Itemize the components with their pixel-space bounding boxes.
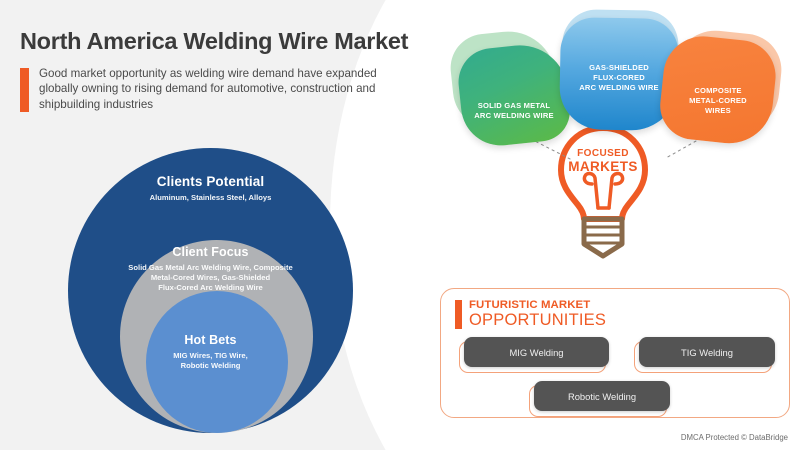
lightbulb-label: FOCUSED MARKETS bbox=[548, 148, 658, 173]
opportunity-chip-robotic-welding[interactable]: Robotic Welding bbox=[529, 385, 665, 415]
blob-line-3: WIRES bbox=[689, 106, 747, 116]
circle-detail-client-focus-line-3: Flux-Cored Arc Welding Wire bbox=[68, 283, 353, 293]
blob-solid-gas-metal-body bbox=[455, 41, 573, 150]
panel-accent-bar bbox=[455, 300, 462, 329]
circle-detail-client-focus-line-2: Metal-Cored Wires, Gas-Shielded bbox=[68, 273, 353, 283]
blob-line-2: METAL-CORED bbox=[689, 96, 747, 106]
chip-label: Robotic Welding bbox=[534, 381, 670, 411]
circle-label-clients-potential: Clients Potential Aluminum, Stainless St… bbox=[68, 174, 353, 203]
page-title: North America Welding Wire Market bbox=[20, 28, 408, 55]
chip-label: MIG Welding bbox=[464, 337, 609, 367]
circle-title-hot-bets: Hot Bets bbox=[68, 333, 353, 347]
circle-title-client-focus: Client Focus bbox=[68, 245, 353, 259]
blob-gas-shielded-label: GAS-SHIELDED FLUX-CORED ARC WELDING WIRE bbox=[579, 63, 659, 93]
circle-detail-client-focus-line-1: Solid Gas Metal Arc Welding Wire, Compos… bbox=[68, 263, 353, 273]
blob-line-2: ARC WELDING WIRE bbox=[474, 111, 554, 121]
subtitle-accent-bar bbox=[20, 68, 29, 112]
blob-line-1: GAS-SHIELDED bbox=[579, 63, 659, 73]
circle-label-hot-bets: Hot Bets MIG Wires, TIG Wire, Robotic We… bbox=[68, 333, 353, 371]
panel-heading-top: FUTURISTIC MARKET bbox=[469, 299, 606, 311]
chip-label: TIG Welding bbox=[639, 337, 775, 367]
nested-circles-diagram: Clients Potential Aluminum, Stainless St… bbox=[68, 148, 353, 433]
blob-line-1: SOLID GAS METAL bbox=[474, 101, 554, 111]
opportunity-chip-mig-welding[interactable]: MIG Welding bbox=[459, 341, 604, 371]
panel-heading-main: OPPORTUNITIES bbox=[469, 312, 606, 329]
subtitle-text: Good market opportunity as welding wire … bbox=[39, 66, 379, 112]
opportunity-chip-tig-welding[interactable]: TIG Welding bbox=[634, 341, 770, 371]
footer-copyright: DMCA Protected © DataBridge bbox=[681, 433, 788, 442]
infographic-slide: North America Welding Wire Market Good m… bbox=[0, 0, 800, 450]
subtitle-block: Good market opportunity as welding wire … bbox=[20, 66, 379, 112]
panel-heading: FUTURISTIC MARKET OPPORTUNITIES bbox=[455, 299, 606, 329]
blob-solid-gas-metal-label: SOLID GAS METAL ARC WELDING WIRE bbox=[474, 101, 554, 121]
blob-solid-gas-metal[interactable]: SOLID GAS METAL ARC WELDING WIRE bbox=[460, 46, 568, 144]
blob-line-2: FLUX-CORED bbox=[579, 73, 659, 83]
circle-detail-hot-bets-line-1: MIG Wires, TIG Wire, bbox=[68, 351, 353, 361]
circle-detail-hot-bets-line-2: Robotic Welding bbox=[68, 361, 353, 371]
circle-detail-clients-potential: Aluminum, Stainless Steel, Alloys bbox=[68, 193, 353, 203]
blob-composite-label: COMPOSITE METAL-CORED WIRES bbox=[689, 86, 747, 116]
blob-line-1: COMPOSITE bbox=[689, 86, 747, 96]
futuristic-opportunities-panel: FUTURISTIC MARKET OPPORTUNITIES MIG Weld… bbox=[440, 288, 790, 418]
blob-line-3: ARC WELDING WIRE bbox=[579, 83, 659, 93]
blob-composite-metal-cored[interactable]: COMPOSITE METAL-CORED WIRES bbox=[662, 38, 774, 142]
lightbulb-label-line-2: MARKETS bbox=[548, 161, 658, 174]
circle-title-clients-potential: Clients Potential bbox=[68, 174, 353, 189]
circle-label-client-focus: Client Focus Solid Gas Metal Arc Welding… bbox=[68, 245, 353, 293]
